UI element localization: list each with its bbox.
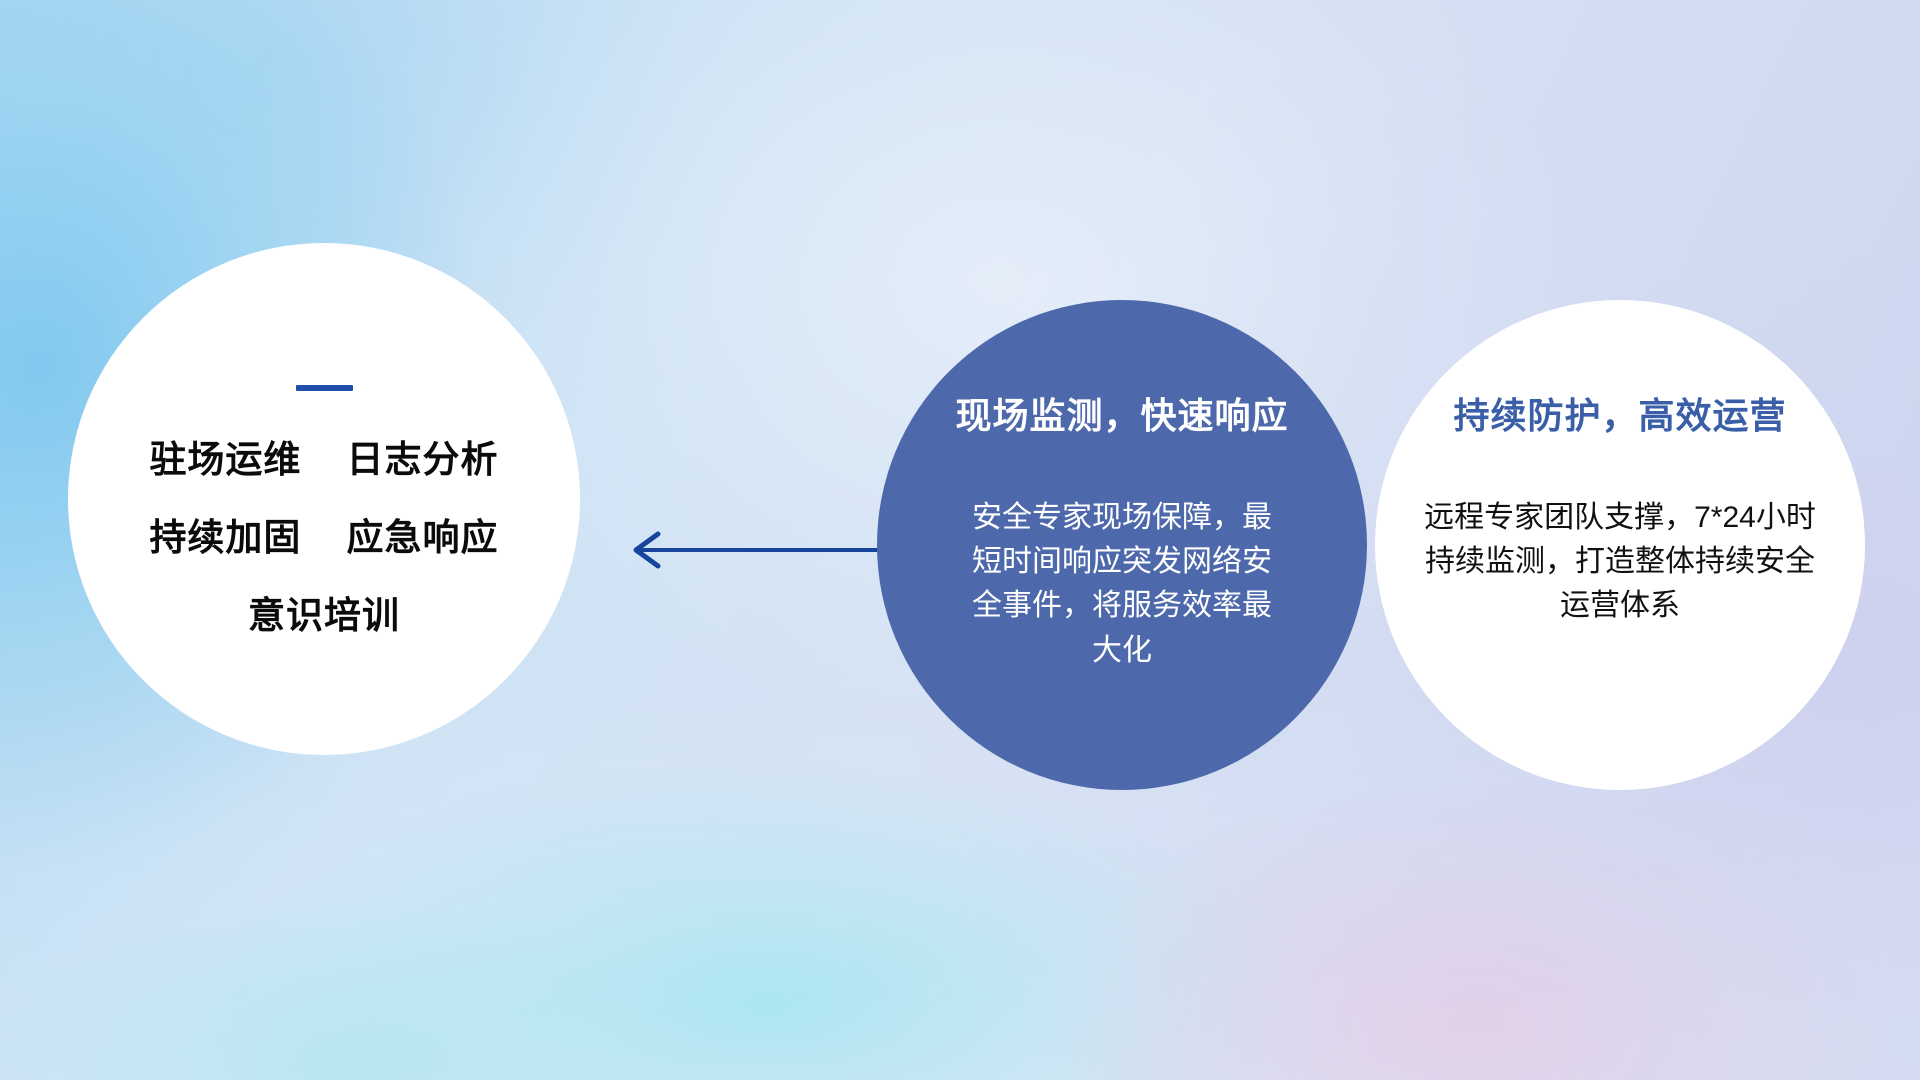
slide-canvas: 驻场运维 日志分析 持续加固 应急响应 意识培训 现场监测，快速响应 安全专家现… xyxy=(0,0,1920,1080)
capability-line-3: 意识培训 xyxy=(68,597,580,634)
capabilities-circle[interactable]: 驻场运维 日志分析 持续加固 应急响应 意识培训 xyxy=(68,243,580,755)
flow-arrow-icon xyxy=(614,520,914,580)
continuous-protection-circle[interactable]: 持续防护，高效运营 远程专家团队支撑，7*24小时持续监测，打造整体持续安全运营… xyxy=(1375,300,1865,790)
capabilities-content: 驻场运维 日志分析 持续加固 应急响应 意识培训 xyxy=(68,385,580,634)
continuous-protection-body: 远程专家团队支撑，7*24小时持续监测，打造整体持续安全运营体系 xyxy=(1415,496,1825,629)
onsite-monitoring-title: 现场监测，快速响应 xyxy=(942,396,1302,436)
onsite-monitoring-body: 安全专家现场保障，最短时间响应突发网络安全事件，将服务效率最大化 xyxy=(962,496,1282,674)
onsite-monitoring-circle[interactable]: 现场监测，快速响应 安全专家现场保障，最短时间响应突发网络安全事件，将服务效率最… xyxy=(877,300,1367,790)
accent-dash-icon xyxy=(296,385,353,391)
capability-line-2: 持续加固 应急响应 xyxy=(68,519,580,556)
continuous-protection-title: 持续防护，高效运营 xyxy=(1405,396,1835,436)
continuous-protection-content: 持续防护，高效运营 远程专家团队支撑，7*24小时持续监测，打造整体持续安全运营… xyxy=(1405,396,1835,629)
onsite-monitoring-content: 现场监测，快速响应 安全专家现场保障，最短时间响应突发网络安全事件，将服务效率最… xyxy=(942,396,1302,673)
capability-line-1: 驻场运维 日志分析 xyxy=(68,441,580,478)
